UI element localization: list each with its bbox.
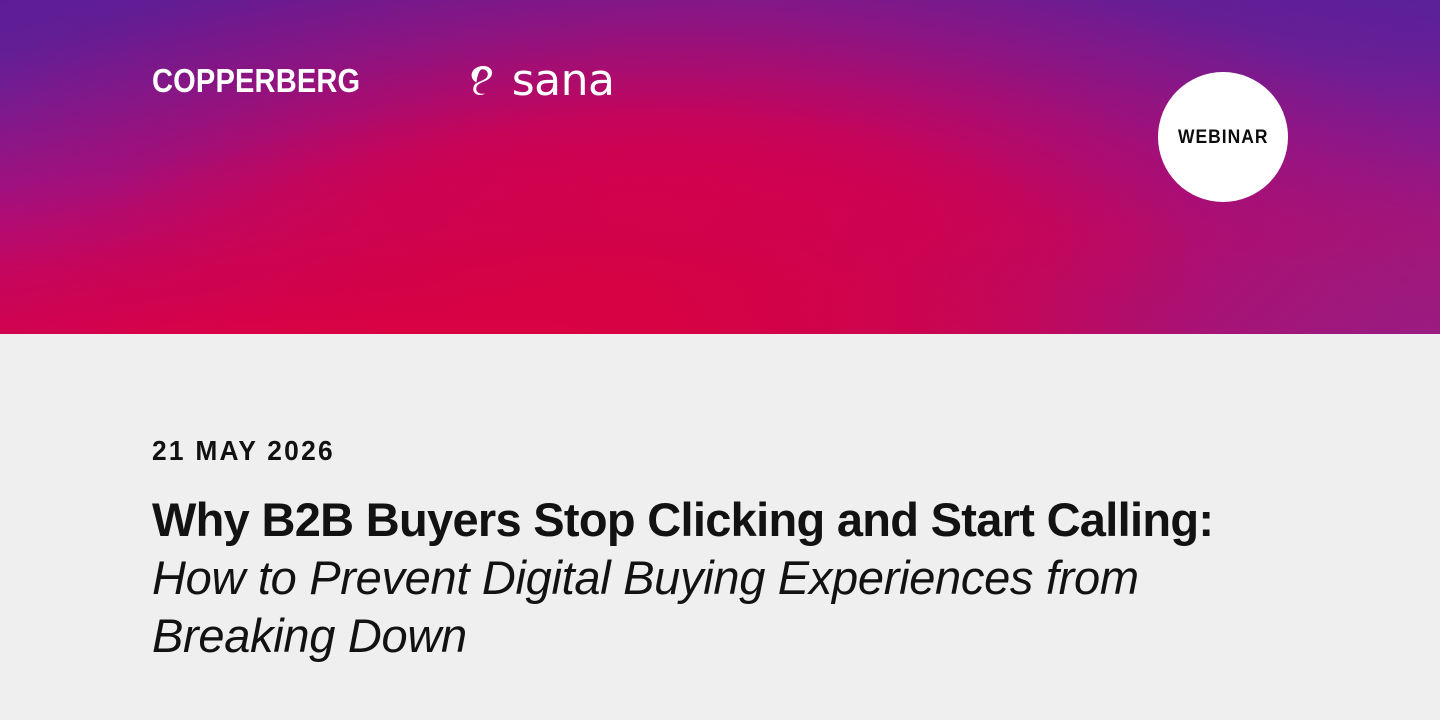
sana-wordmark: sana [512,59,615,103]
page-title-subtitle: How to Prevent Digital Buying Experience… [152,549,1242,665]
sana-s-mark-icon [467,64,500,97]
page-title-main: Why B2B Buyers Stop Clicking and Start C… [152,491,1332,549]
webinar-badge-label: WEBINAR [1178,128,1269,147]
logo-row: COPPERBERG sana [152,54,614,106]
page-title: Why B2B Buyers Stop Clicking and Start C… [152,491,1332,665]
webinar-promo-page: COPPERBERG sana WEBINAR 21 MAY 2026 Why … [0,0,1440,720]
webinar-badge[interactable]: WEBINAR [1158,72,1288,202]
sana-logo[interactable]: sana [467,58,615,103]
hero-banner: COPPERBERG sana WEBINAR [0,0,1440,334]
content-section: 21 MAY 2026 Why B2B Buyers Stop Clicking… [152,334,1352,665]
event-date: 21 MAY 2026 [152,437,1280,465]
copperberg-logo[interactable]: COPPERBERG [152,64,360,97]
